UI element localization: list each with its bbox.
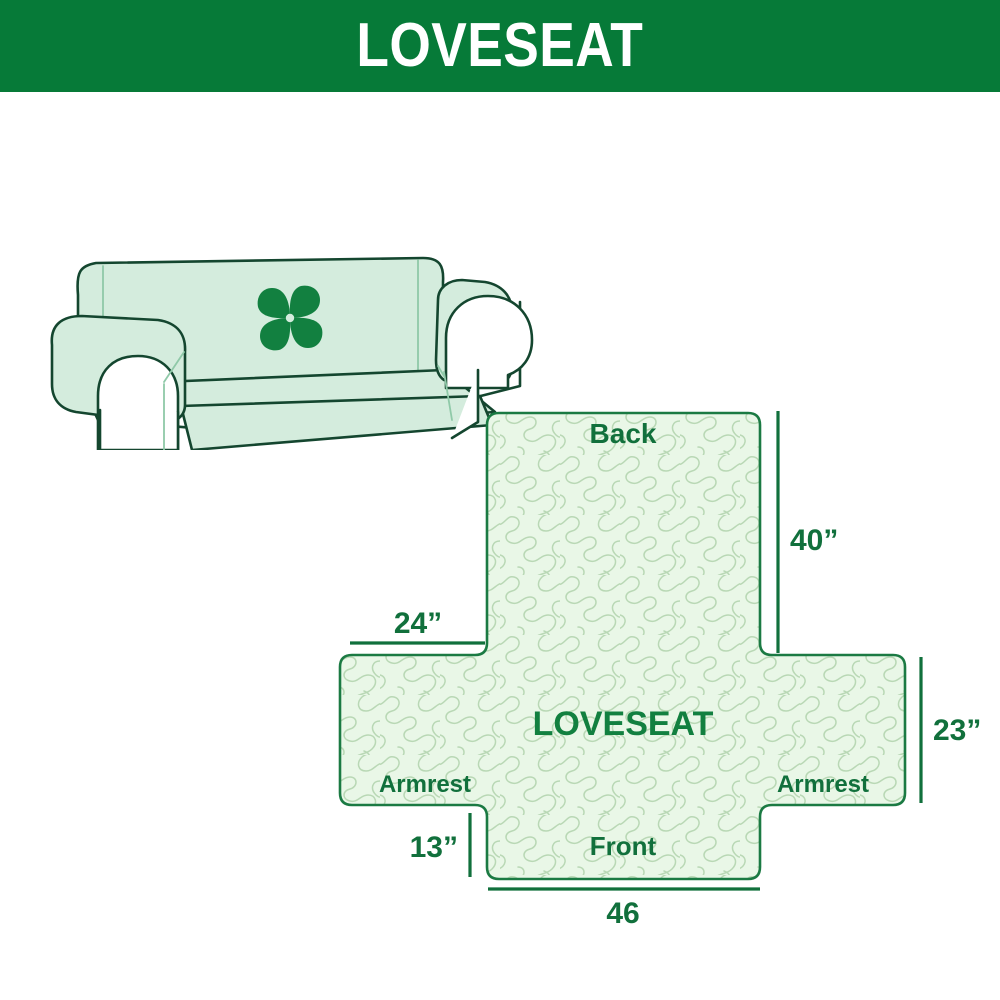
product-dimension-infographic: LOVESEAT: [0, 0, 1000, 1000]
header-banner: LOVESEAT: [0, 0, 1000, 92]
cover-cross-outline: [340, 413, 905, 879]
page-title: LOVESEAT: [357, 15, 644, 77]
label-center-loveseat: LOVESEAT: [533, 705, 714, 743]
flat-pattern-diagram: Back LOVESEAT Armrest Armrest Front 40”: [320, 395, 1000, 965]
label-back: Back: [590, 418, 657, 449]
label-front: Front: [590, 831, 657, 861]
dimension-label-13: 13”: [410, 831, 458, 864]
label-armrest-left: Armrest: [379, 771, 471, 798]
label-armrest-right: Armrest: [777, 771, 869, 798]
dimension-label-46: 46: [606, 897, 639, 930]
dimension-label-40: 40”: [790, 524, 838, 557]
dimension-label-24: 24”: [394, 607, 442, 640]
dimension-label-23: 23”: [933, 714, 981, 747]
